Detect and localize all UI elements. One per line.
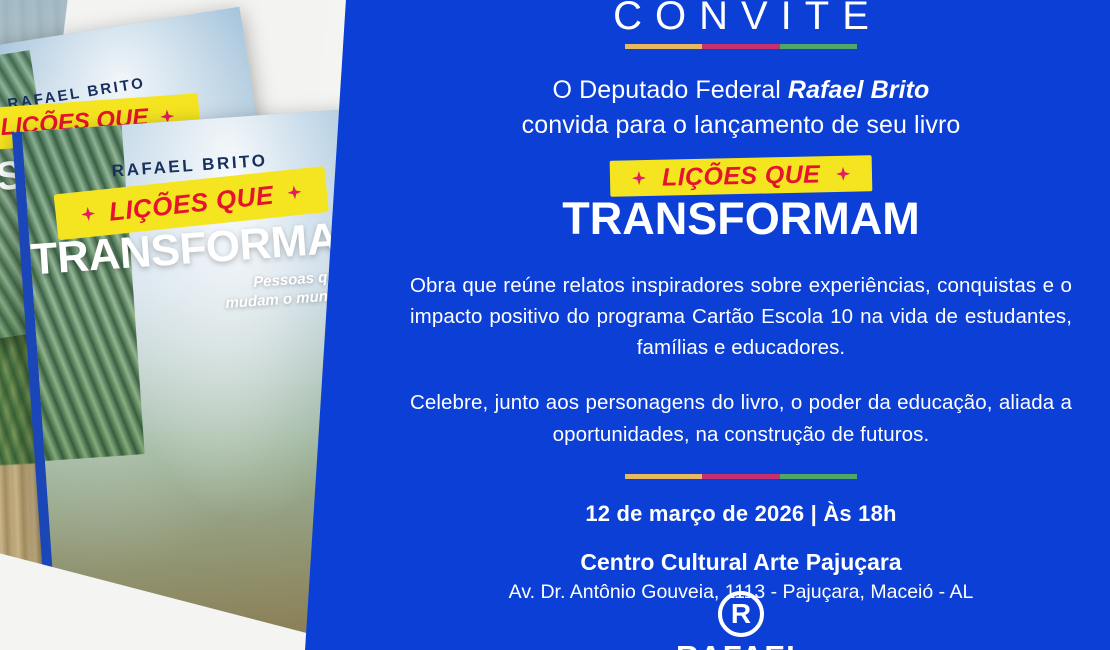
invitation-content: CONVITE O Deputado Federal Rafael Brito … (372, 0, 1110, 650)
brand-name: RAFAEL (372, 641, 1110, 650)
sparkle-icon (80, 206, 95, 221)
divider-segment-green (780, 44, 857, 49)
body-paragraph-2: Celebre, junto aos personagens do livro,… (410, 387, 1072, 449)
invitation-poster: ALAGOAS RAFAEL BRITO LIÇÕES QUE TRANSFOR… (0, 0, 1110, 650)
sparkle-icon (836, 167, 850, 181)
sparkle-icon (287, 185, 302, 200)
divider-segment-gold (625, 44, 702, 49)
divider-segment-magenta (702, 474, 779, 479)
divider-segment-green (780, 474, 857, 479)
event-venue: Centro Cultural Arte Pajuçara (372, 549, 1110, 576)
book-logo: LIÇÕES QUE TRANSFORMAM (372, 158, 1110, 250)
book-logo-banner: LIÇÕES QUE (610, 155, 873, 196)
divider-bottom (625, 474, 857, 479)
sparkle-icon (632, 171, 646, 185)
book-logo-title: TRANSFORMAM (372, 196, 1110, 242)
divider-segment-magenta (702, 44, 779, 49)
event-date-time: 12 de março de 2026 | Às 18h (372, 501, 1110, 527)
book-logo-banner-text: LIÇÕES QUE (662, 162, 821, 190)
divider-top (625, 44, 857, 49)
deputy-name: Rafael Brito (788, 76, 930, 104)
page-title: CONVITE (372, 0, 1110, 32)
book-photo-panel: ALAGOAS RAFAEL BRITO LIÇÕES QUE TRANSFOR… (0, 0, 372, 650)
brand-mark-r-icon: R (718, 591, 764, 637)
intro-line2: convida para o lançamento de seu livro (522, 111, 961, 139)
body-paragraph-1: Obra que reúne relatos inspiradores sobr… (410, 270, 1072, 363)
divider-segment-gold (625, 474, 702, 479)
invitation-intro: O Deputado Federal Rafael Brito convida … (372, 73, 1110, 142)
brand-logo: R RAFAEL (372, 591, 1110, 650)
intro-line1-prefix: O Deputado Federal (553, 76, 788, 104)
